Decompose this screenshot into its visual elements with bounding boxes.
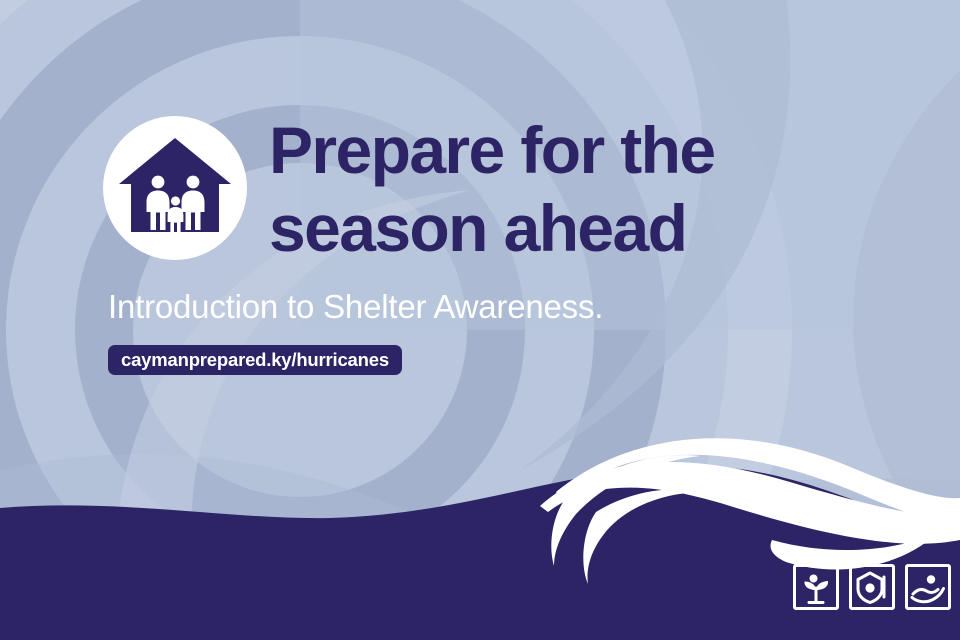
hand-wave-icon xyxy=(904,563,952,611)
headline-line-1: Prepare for the xyxy=(269,111,889,189)
house-family-logo xyxy=(103,116,247,260)
agency-badge-row xyxy=(792,563,952,611)
subtitle: Introduction to Shelter Awareness. xyxy=(108,286,603,328)
headline: Prepare for the season ahead xyxy=(269,111,889,267)
hurricane-preparedness-banner: Prepare for the season ahead Introductio… xyxy=(0,0,960,640)
shield-person-icon xyxy=(848,563,896,611)
headline-line-2: season ahead xyxy=(269,189,889,267)
plant-sprout-icon xyxy=(792,563,840,611)
website-url-pill[interactable]: caymanprepared.ky/hurricanes xyxy=(108,345,402,375)
